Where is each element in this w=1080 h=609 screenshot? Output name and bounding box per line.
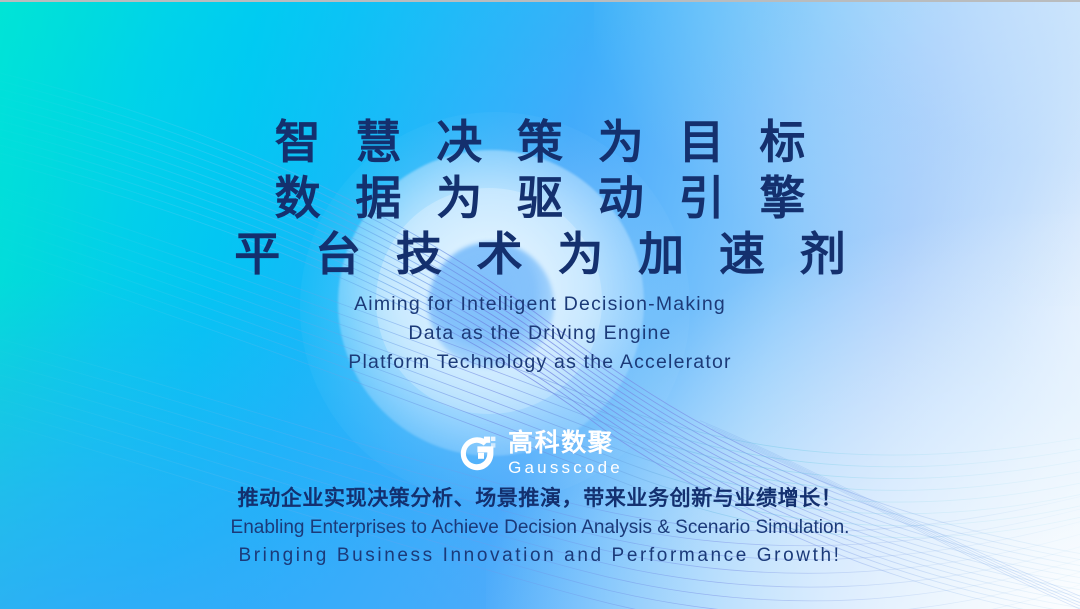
headline-line-2: 数 据 为 驱 动 引 擎 bbox=[0, 170, 1080, 226]
promo-banner: 智 慧 决 策 为 目 标 数 据 为 驱 动 引 擎 平 台 技 术 为 加 … bbox=[0, 0, 1080, 609]
headline-block: 智 慧 决 策 为 目 标 数 据 为 驱 动 引 擎 平 台 技 术 为 加 … bbox=[0, 114, 1080, 282]
logo-name-cn: 高科数聚 bbox=[508, 430, 623, 457]
subtitle-line-2: Data as the Driving Engine bbox=[0, 319, 1080, 348]
footer-tagline-cn: 推动企业实现决策分析、场景推演，带来业务创新与业绩增长！ bbox=[0, 484, 1080, 514]
headline-line-3: 平 台 技 术 为 加 速 剂 bbox=[0, 226, 1080, 282]
subtitle-block: Aiming for Intelligent Decision-Making D… bbox=[0, 290, 1080, 377]
headline-line-1: 智 慧 决 策 为 目 标 bbox=[0, 114, 1080, 170]
subtitle-line-3: Platform Technology as the Accelerator bbox=[0, 348, 1080, 377]
brand-logo: 高科数聚 Gausscode bbox=[0, 430, 1080, 478]
logo-name-en: Gausscode bbox=[508, 458, 623, 478]
banner-content: 智 慧 决 策 为 目 标 数 据 为 驱 动 引 擎 平 台 技 术 为 加 … bbox=[0, 2, 1080, 609]
footer-tagline-en-line-2: Bringing Business Innovation and Perform… bbox=[0, 542, 1080, 570]
logo-text-block: 高科数聚 Gausscode bbox=[508, 430, 623, 478]
gausscode-g-mark-icon bbox=[457, 434, 497, 474]
subtitle-line-1: Aiming for Intelligent Decision-Making bbox=[0, 290, 1080, 319]
footer-tagline-en-line-1: Enabling Enterprises to Achieve Decision… bbox=[0, 514, 1080, 542]
footer-block: 推动企业实现决策分析、场景推演，带来业务创新与业绩增长！ Enabling En… bbox=[0, 484, 1080, 570]
